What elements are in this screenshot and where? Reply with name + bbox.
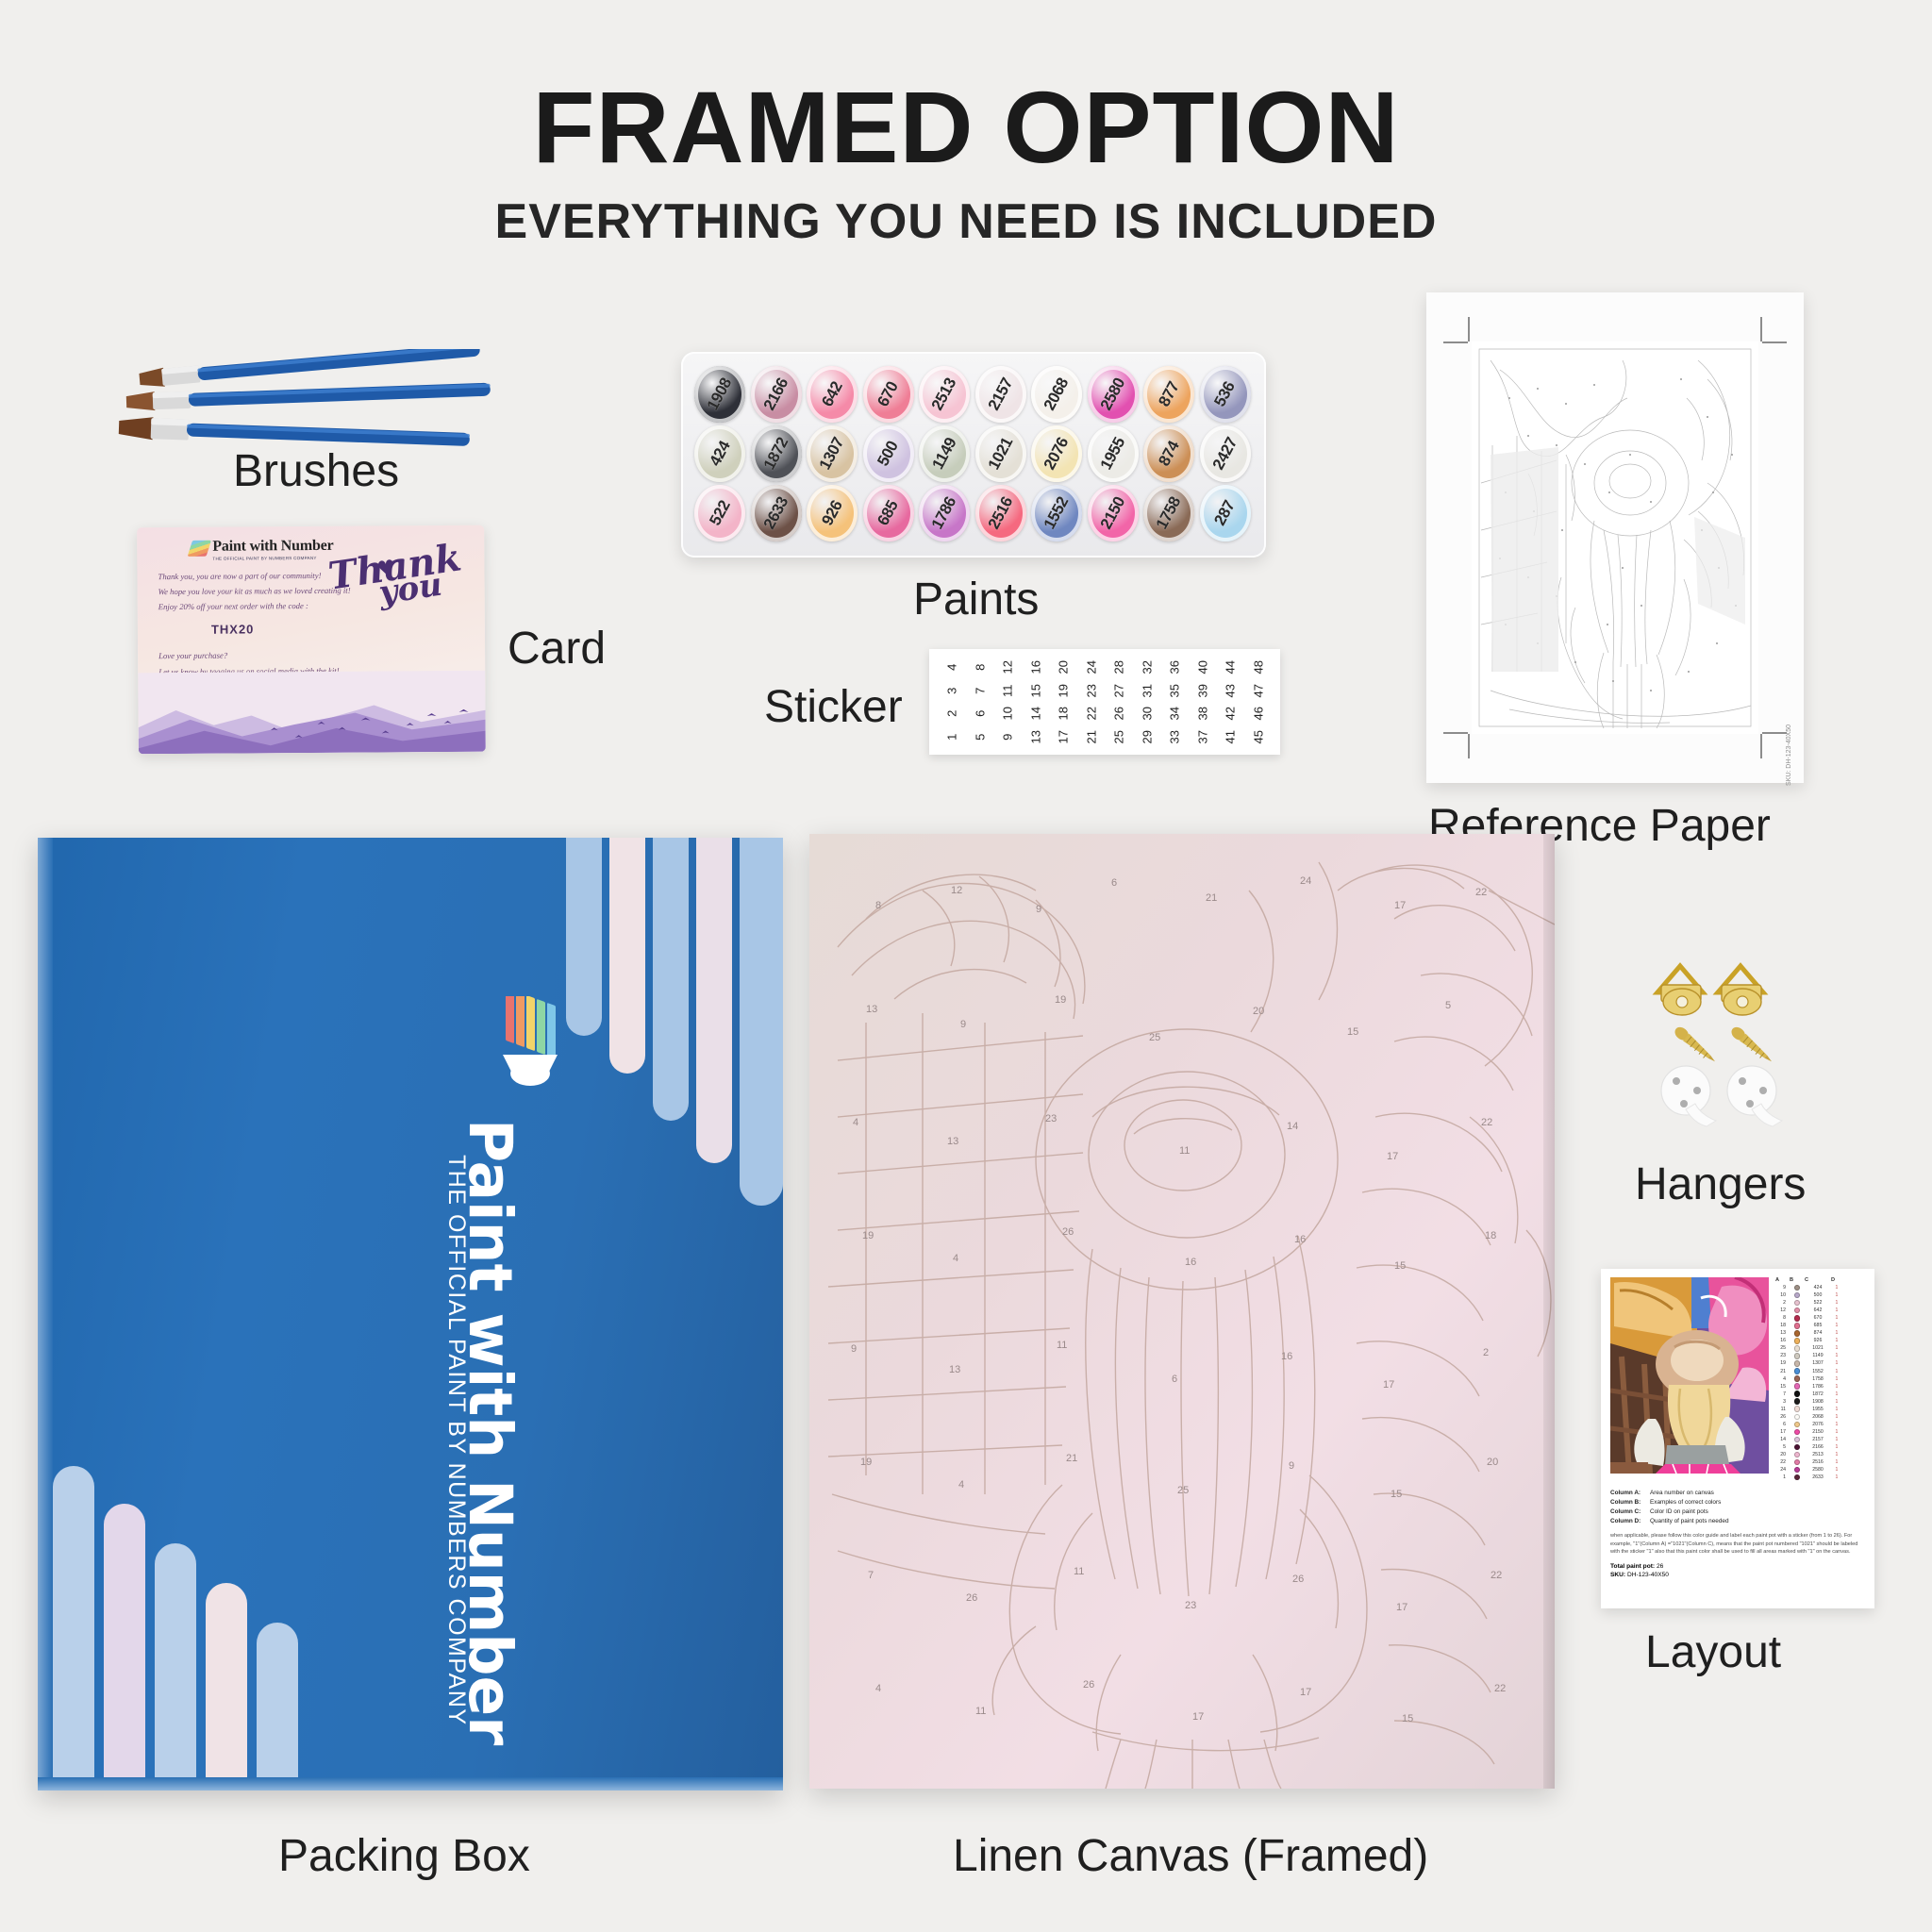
- layout-sku: SKU: DH-123-40X50: [1610, 1572, 1865, 1578]
- sticker-number: 13: [1024, 723, 1047, 751]
- canvas-right-edge: [1543, 834, 1555, 1789]
- paint-pot: 2427: [1200, 425, 1251, 482]
- crop-mark-tl-h: [1443, 341, 1468, 343]
- col-b-header: B: [1790, 1277, 1805, 1283]
- column-def-desc: Examples of correct colors: [1650, 1499, 1721, 1506]
- paint-pot: 1307: [807, 425, 858, 482]
- layout-thumbnail-art: [1610, 1277, 1769, 1474]
- brushes-illustration: [74, 349, 545, 453]
- caption-layout: Layout: [1645, 1626, 1781, 1678]
- paint-pot-id: 2580: [1096, 375, 1128, 413]
- box-stripe-3: [653, 838, 689, 1121]
- column-def-desc: Color ID on paint pots: [1650, 1508, 1708, 1515]
- paint-pot: 2580: [1088, 366, 1139, 423]
- linen-canvas: 8 12 9 6 21 24 17 22 13 9 19 25 20 15 5 …: [809, 834, 1555, 1789]
- row-color-swatch: [1790, 1406, 1805, 1412]
- paint-pot: 2157: [975, 366, 1026, 423]
- sticker-number: 45: [1246, 723, 1270, 751]
- layout-table-row: 86701: [1775, 1314, 1865, 1322]
- row-area-number: 20: [1775, 1452, 1790, 1457]
- row-area-number: 26: [1775, 1414, 1790, 1420]
- row-area-number: 22: [1775, 1459, 1790, 1465]
- box-branding: Paint with Number THE OFFICIAL PAINT BY …: [434, 996, 585, 1619]
- row-color-id: 2157: [1805, 1437, 1831, 1442]
- caption-packing-box: Packing Box: [278, 1830, 530, 1882]
- row-color-swatch: [1790, 1307, 1805, 1314]
- wall-hook-1: [1661, 1066, 1716, 1126]
- paint-pot: 1786: [919, 485, 970, 541]
- paint-pot: 522: [694, 485, 745, 541]
- crop-mark-tr-v: [1760, 317, 1762, 341]
- sticker-number: 41: [1219, 723, 1242, 751]
- paint-pot: 424: [694, 425, 745, 482]
- heart-icon: ♥: [376, 559, 397, 578]
- paint-pot: 877: [1143, 366, 1194, 423]
- row-quantity: 1: [1831, 1391, 1842, 1397]
- row-color-swatch: [1790, 1437, 1805, 1443]
- paint-pot-id: 2633: [759, 493, 791, 532]
- box-stripe-6: [53, 1466, 94, 1777]
- row-color-swatch: [1790, 1375, 1805, 1382]
- card-line-4: Love your purchase?: [158, 646, 394, 663]
- layout-table-row: 2311491: [1775, 1352, 1865, 1359]
- row-color-swatch: [1790, 1330, 1805, 1337]
- row-color-id: 1021: [1805, 1345, 1831, 1351]
- row-color-id: 522: [1805, 1300, 1831, 1306]
- total-label: Total paint pot:: [1610, 1563, 1655, 1570]
- row-color-swatch: [1790, 1414, 1805, 1421]
- paint-pot: 2076: [1031, 425, 1082, 482]
- column-def-label: Column C:: [1610, 1507, 1650, 1517]
- row-color-id: 685: [1805, 1323, 1831, 1328]
- row-quantity: 1: [1831, 1315, 1842, 1321]
- row-color-swatch: [1790, 1323, 1805, 1329]
- layout-table-row: 417581: [1775, 1375, 1865, 1383]
- row-quantity: 1: [1831, 1300, 1842, 1306]
- paint-pot-id: 1872: [759, 434, 791, 473]
- paint-pot-id: 2076: [1041, 434, 1073, 473]
- page-title: FRAMED OPTION: [0, 68, 1932, 186]
- canvas-number-layer: 8 12 9 6 21 24 17 22 13 9 19 25 20 15 5 …: [809, 834, 1555, 1789]
- row-quantity: 1: [1831, 1437, 1842, 1442]
- paint-pot: 287: [1200, 485, 1251, 541]
- row-color-swatch: [1790, 1467, 1805, 1474]
- paint-pot-id: 2068: [1041, 375, 1073, 413]
- paint-pot: 2513: [919, 366, 970, 423]
- row-color-id: 642: [1805, 1307, 1831, 1313]
- packing-box: Paint with Number THE OFFICIAL PAINT BY …: [38, 838, 783, 1790]
- layout-table-row: 620761: [1775, 1421, 1865, 1428]
- row-color-swatch: [1790, 1422, 1805, 1428]
- paint-pot: 2150: [1088, 485, 1139, 541]
- row-color-id: 2513: [1805, 1452, 1831, 1457]
- card-discount-code: THX20: [211, 622, 255, 636]
- row-color-id: 2633: [1805, 1474, 1831, 1480]
- row-color-id: 424: [1805, 1285, 1831, 1291]
- paint-pot: 1149: [919, 425, 970, 482]
- paint-pot-id: 1552: [1041, 493, 1073, 532]
- layout-table-row: 718721: [1775, 1391, 1865, 1398]
- row-quantity: 1: [1831, 1323, 1842, 1328]
- caption-hangers: Hangers: [1635, 1158, 1806, 1210]
- paint-pot-id: 424: [706, 438, 734, 469]
- screw-1: [1673, 1024, 1719, 1066]
- row-quantity: 1: [1831, 1376, 1842, 1382]
- sticker-number: 17: [1052, 723, 1075, 751]
- crop-mark-br-h: [1762, 732, 1787, 734]
- column-def-label: Column B:: [1610, 1498, 1650, 1507]
- row-area-number: 21: [1775, 1369, 1790, 1374]
- row-quantity: 1: [1831, 1474, 1842, 1480]
- column-def-desc: Area number on canvas: [1650, 1490, 1714, 1496]
- row-area-number: 2: [1775, 1300, 1790, 1306]
- paint-pots-grid: 1908216664267025132157206825808775364241…: [692, 365, 1255, 544]
- layout-table-row: 319081: [1775, 1398, 1865, 1406]
- layout-table-rows: 9424110500125221126421867011868511387411…: [1775, 1284, 1865, 1481]
- row-quantity: 1: [1831, 1459, 1842, 1465]
- reference-paper-sku: SKU: DH-123-40X50: [1786, 724, 1792, 786]
- sticker-number: 1: [941, 723, 964, 751]
- caption-card: Card: [508, 623, 606, 675]
- paint-pot: 1758: [1143, 485, 1194, 541]
- paint-brush-icon: [478, 996, 569, 1091]
- row-area-number: 10: [1775, 1292, 1790, 1298]
- layout-table-header: A B C D: [1775, 1277, 1865, 1284]
- row-color-id: 500: [1805, 1292, 1831, 1298]
- paint-pot: 1955: [1088, 425, 1139, 482]
- row-quantity: 1: [1831, 1467, 1842, 1473]
- row-color-swatch: [1790, 1300, 1805, 1307]
- sku-label: SKU:: [1610, 1572, 1625, 1578]
- column-def-desc: Quantity of paint pots needed: [1650, 1518, 1729, 1524]
- total-value: 26: [1657, 1563, 1663, 1570]
- crop-mark-tr-h: [1762, 341, 1787, 343]
- row-color-id: 1786: [1805, 1384, 1831, 1390]
- row-color-swatch: [1790, 1345, 1805, 1352]
- row-color-id: 2516: [1805, 1459, 1831, 1465]
- brushes-group: [74, 349, 545, 453]
- row-color-swatch: [1790, 1360, 1805, 1367]
- box-stripe-2: [609, 838, 645, 1074]
- row-area-number: 25: [1775, 1345, 1790, 1351]
- sticker-number: 33: [1163, 723, 1187, 751]
- box-stripe-7: [104, 1504, 145, 1777]
- layout-column-definitions: Column A:Area number on canvasColumn B:E…: [1610, 1489, 1865, 1526]
- row-color-swatch: [1790, 1368, 1805, 1374]
- paint-pot: 2068: [1031, 366, 1082, 423]
- row-color-id: 2166: [1805, 1444, 1831, 1450]
- row-color-swatch: [1790, 1292, 1805, 1299]
- row-quantity: 1: [1831, 1292, 1842, 1298]
- layout-table-row: 2620681: [1775, 1413, 1865, 1421]
- row-area-number: 3: [1775, 1399, 1790, 1405]
- caption-linen-canvas: Linen Canvas (Framed): [953, 1830, 1428, 1882]
- row-color-id: 1872: [1805, 1391, 1831, 1397]
- row-quantity: 1: [1831, 1407, 1842, 1412]
- paint-pot-id: 877: [1155, 378, 1183, 409]
- paint-pot: 2516: [975, 485, 1026, 541]
- row-color-swatch: [1790, 1315, 1805, 1322]
- paint-pot-id: 926: [818, 497, 846, 528]
- layout-table-row: 25221: [1775, 1299, 1865, 1307]
- paint-pot: 1021: [975, 425, 1026, 482]
- paint-pot-id: 642: [818, 378, 846, 409]
- layout-column-def: Column A:Area number on canvas: [1610, 1489, 1865, 1498]
- row-quantity: 1: [1831, 1285, 1842, 1291]
- paint-tray: 1908216664267025132157206825808775364241…: [681, 352, 1266, 558]
- paint-pot-id: 1955: [1096, 434, 1128, 473]
- row-quantity: 1: [1831, 1384, 1842, 1390]
- box-brand-tagline: THE OFFICIAL PAINT BY NUMBERS COMPANY: [442, 1155, 470, 1726]
- layout-table-row: 1119551: [1775, 1406, 1865, 1413]
- paint-pot-id: 1149: [928, 435, 960, 473]
- paint-pot: 1552: [1031, 485, 1082, 541]
- layout-table-row: 2225161: [1775, 1458, 1865, 1466]
- sticker-number: 9: [996, 723, 1020, 751]
- paint-pot-id: 500: [874, 438, 902, 469]
- row-area-number: 6: [1775, 1422, 1790, 1427]
- col-a-header: A: [1775, 1277, 1790, 1283]
- box-stripe-4: [696, 838, 732, 1163]
- row-color-id: 1908: [1805, 1399, 1831, 1405]
- paint-pot: 2633: [751, 485, 802, 541]
- layout-table-row: 138741: [1775, 1329, 1865, 1337]
- hangers-illustration: [1637, 960, 1882, 1177]
- row-color-id: 1955: [1805, 1407, 1831, 1412]
- caption-paints: Paints: [913, 574, 1039, 625]
- paint-pot-id: 536: [1210, 378, 1239, 409]
- layout-note: when applicable, please follow this colo…: [1610, 1532, 1865, 1557]
- paint-pot-id: 2166: [759, 375, 791, 413]
- paint-pot-id: 287: [1210, 497, 1239, 528]
- row-area-number: 23: [1775, 1353, 1790, 1358]
- d-ring-hanger-2: [1718, 966, 1763, 1015]
- layout-table-row: 126331: [1775, 1474, 1865, 1481]
- sticker-sheet: 4812162024283236404448371115192327313539…: [929, 649, 1280, 755]
- layout-table-row: 2510211: [1775, 1344, 1865, 1352]
- paint-pot: 536: [1200, 366, 1251, 423]
- col-d-header: D: [1831, 1277, 1842, 1283]
- paint-pot: 1872: [751, 425, 802, 482]
- layout-table-row: 2025131: [1775, 1451, 1865, 1458]
- row-quantity: 1: [1831, 1360, 1842, 1366]
- reference-artwork-svg: [1472, 341, 1758, 734]
- column-def-label: Column A:: [1610, 1489, 1650, 1498]
- row-area-number: 13: [1775, 1330, 1790, 1336]
- paint-pot: 685: [863, 485, 914, 541]
- thank-you-card: Paint with Number THE OFFICIAL PAINT BY …: [137, 525, 486, 755]
- paint-pot-id: 2157: [984, 375, 1016, 413]
- row-color-swatch: [1790, 1391, 1805, 1397]
- layout-table-row: 169261: [1775, 1337, 1865, 1344]
- caption-sticker: Sticker: [764, 681, 903, 733]
- layout-card-top: A B C D 94241105001252211264218670118685…: [1610, 1277, 1865, 1481]
- layout-table-row: 126421: [1775, 1307, 1865, 1314]
- paint-pot-id: 1758: [1153, 493, 1185, 532]
- box-stripe-5: [740, 838, 783, 1206]
- paint-pot: 500: [863, 425, 914, 482]
- row-color-swatch: [1790, 1398, 1805, 1405]
- row-color-id: 1758: [1805, 1376, 1831, 1382]
- reference-paper: SKU: DH-123-40X50: [1426, 292, 1804, 783]
- paint-pot: 642: [807, 366, 858, 423]
- row-area-number: 12: [1775, 1307, 1790, 1313]
- box-stripe-10: [257, 1623, 298, 1777]
- paint-pot-id: 2427: [1208, 434, 1241, 473]
- row-quantity: 1: [1831, 1307, 1842, 1313]
- row-color-id: 926: [1805, 1338, 1831, 1343]
- paint-pot-id: 685: [874, 497, 902, 528]
- row-area-number: 7: [1775, 1391, 1790, 1397]
- layout-thumbnail: [1610, 1277, 1769, 1474]
- row-area-number: 5: [1775, 1444, 1790, 1450]
- layout-table-row: 1517861: [1775, 1383, 1865, 1391]
- row-color-swatch: [1790, 1383, 1805, 1390]
- row-color-id: 874: [1805, 1330, 1831, 1336]
- row-color-swatch: [1790, 1429, 1805, 1436]
- layout-table-row: 1421571: [1775, 1436, 1865, 1443]
- row-color-id: 2580: [1805, 1467, 1831, 1473]
- row-area-number: 18: [1775, 1323, 1790, 1328]
- layout-table-row: 94241: [1775, 1284, 1865, 1291]
- sticker-number: 37: [1191, 723, 1214, 751]
- paint-pot-id: 1307: [816, 434, 848, 473]
- card-brand-name: Paint with Number: [212, 538, 333, 555]
- crop-mark-tl-v: [1468, 317, 1470, 341]
- row-color-id: 1149: [1805, 1353, 1831, 1358]
- layout-table-row: 521661: [1775, 1443, 1865, 1451]
- paint-pot-id: 2513: [928, 375, 960, 413]
- row-area-number: 1: [1775, 1474, 1790, 1480]
- sticker-number: 5: [968, 723, 991, 751]
- paint-brush-icon: [188, 541, 211, 557]
- box-bottom-edge: [38, 1777, 783, 1790]
- row-color-swatch: [1790, 1338, 1805, 1344]
- column-def-label: Column D:: [1610, 1517, 1650, 1526]
- row-area-number: 24: [1775, 1467, 1790, 1473]
- row-quantity: 1: [1831, 1369, 1842, 1374]
- d-ring-hanger-1: [1657, 966, 1703, 1015]
- row-quantity: 1: [1831, 1452, 1842, 1457]
- row-area-number: 17: [1775, 1429, 1790, 1435]
- sticker-number: 29: [1135, 723, 1158, 751]
- row-quantity: 1: [1831, 1353, 1842, 1358]
- row-quantity: 1: [1831, 1330, 1842, 1336]
- card-brand-tagline: THE OFFICIAL PAINT BY NUMBERS COMPANY: [212, 556, 333, 561]
- caption-brushes: Brushes: [233, 445, 399, 497]
- layout-table-row: 1721501: [1775, 1428, 1865, 1436]
- paint-pot: 2166: [751, 366, 802, 423]
- paint-pot-id: 874: [1155, 438, 1183, 469]
- card-thank-you-script: ♥ Thank you: [327, 542, 467, 613]
- row-area-number: 8: [1775, 1315, 1790, 1321]
- row-color-id: 2068: [1805, 1414, 1831, 1420]
- card-mountain-artwork: [138, 671, 486, 755]
- layout-table-row: 186851: [1775, 1322, 1865, 1329]
- paint-pot: 670: [863, 366, 914, 423]
- crop-mark-bl-v: [1468, 734, 1470, 758]
- row-color-swatch: [1790, 1459, 1805, 1466]
- layout-card: A B C D 94241105001252211264218670118685…: [1601, 1269, 1874, 1608]
- paint-pot-id: 522: [706, 497, 734, 528]
- paint-pot-id: 1021: [984, 434, 1016, 473]
- box-stripe-8: [155, 1543, 196, 1777]
- layout-table-row: 105001: [1775, 1291, 1865, 1299]
- paint-pot-id: 1786: [928, 493, 960, 532]
- paint-pot-id: 2150: [1096, 493, 1128, 532]
- row-quantity: 1: [1831, 1414, 1842, 1420]
- layout-column-def: Column B:Examples of correct colors: [1610, 1498, 1865, 1507]
- row-area-number: 9: [1775, 1285, 1790, 1291]
- wall-hook-2: [1727, 1066, 1782, 1126]
- crop-mark-br-v: [1760, 734, 1762, 758]
- card-logo: Paint with Number THE OFFICIAL PAINT BY …: [190, 538, 333, 561]
- paint-pot: 926: [807, 485, 858, 541]
- paint-pot: 874: [1143, 425, 1194, 482]
- paint-pot: 1908: [694, 366, 745, 423]
- sticker-number: 21: [1079, 723, 1103, 751]
- row-color-swatch: [1790, 1474, 1805, 1481]
- sticker-number: 25: [1108, 723, 1131, 751]
- row-color-swatch: [1790, 1452, 1805, 1458]
- layout-table-row: 2115521: [1775, 1368, 1865, 1375]
- paint-pot-id: 670: [874, 378, 902, 409]
- col-c-header: C: [1805, 1277, 1831, 1283]
- row-area-number: 16: [1775, 1338, 1790, 1343]
- row-area-number: 4: [1775, 1376, 1790, 1382]
- sku-value: DH-123-40X50: [1627, 1572, 1669, 1578]
- row-color-id: 1552: [1805, 1369, 1831, 1374]
- row-area-number: 14: [1775, 1437, 1790, 1442]
- paint-pot-id: 2516: [984, 493, 1016, 532]
- row-area-number: 15: [1775, 1384, 1790, 1390]
- row-color-swatch: [1790, 1285, 1805, 1291]
- box-left-edge: [38, 838, 53, 1790]
- screw-2: [1729, 1024, 1775, 1066]
- row-area-number: 19: [1775, 1360, 1790, 1366]
- layout-table-row: 1913071: [1775, 1359, 1865, 1367]
- row-quantity: 1: [1831, 1345, 1842, 1351]
- layout-table-row: 2425801: [1775, 1466, 1865, 1474]
- row-color-id: 1307: [1805, 1360, 1831, 1366]
- hangers-group: [1637, 960, 1882, 1177]
- layout-total-paint-pot: Total paint pot: 26: [1610, 1563, 1865, 1570]
- reference-line-art: [1472, 341, 1758, 734]
- row-quantity: 1: [1831, 1444, 1842, 1450]
- row-color-swatch: [1790, 1444, 1805, 1451]
- layout-color-table: A B C D 94241105001252211264218670118685…: [1775, 1277, 1865, 1481]
- row-quantity: 1: [1831, 1399, 1842, 1405]
- box-stripe-9: [206, 1583, 247, 1777]
- row-color-id: 670: [1805, 1315, 1831, 1321]
- row-quantity: 1: [1831, 1429, 1842, 1435]
- row-color-id: 2150: [1805, 1429, 1831, 1435]
- row-color-swatch: [1790, 1353, 1805, 1359]
- layout-column-def: Column C:Color ID on paint pots: [1610, 1507, 1865, 1517]
- layout-column-def: Column D:Quantity of paint pots needed: [1610, 1517, 1865, 1526]
- crop-mark-bl-h: [1443, 732, 1468, 734]
- paint-pot-id: 1908: [704, 375, 736, 413]
- row-color-id: 2076: [1805, 1422, 1831, 1427]
- page-subtitle: EVERYTHING YOU NEED IS INCLUDED: [0, 193, 1932, 250]
- row-quantity: 1: [1831, 1422, 1842, 1427]
- row-area-number: 11: [1775, 1407, 1790, 1412]
- row-quantity: 1: [1831, 1338, 1842, 1343]
